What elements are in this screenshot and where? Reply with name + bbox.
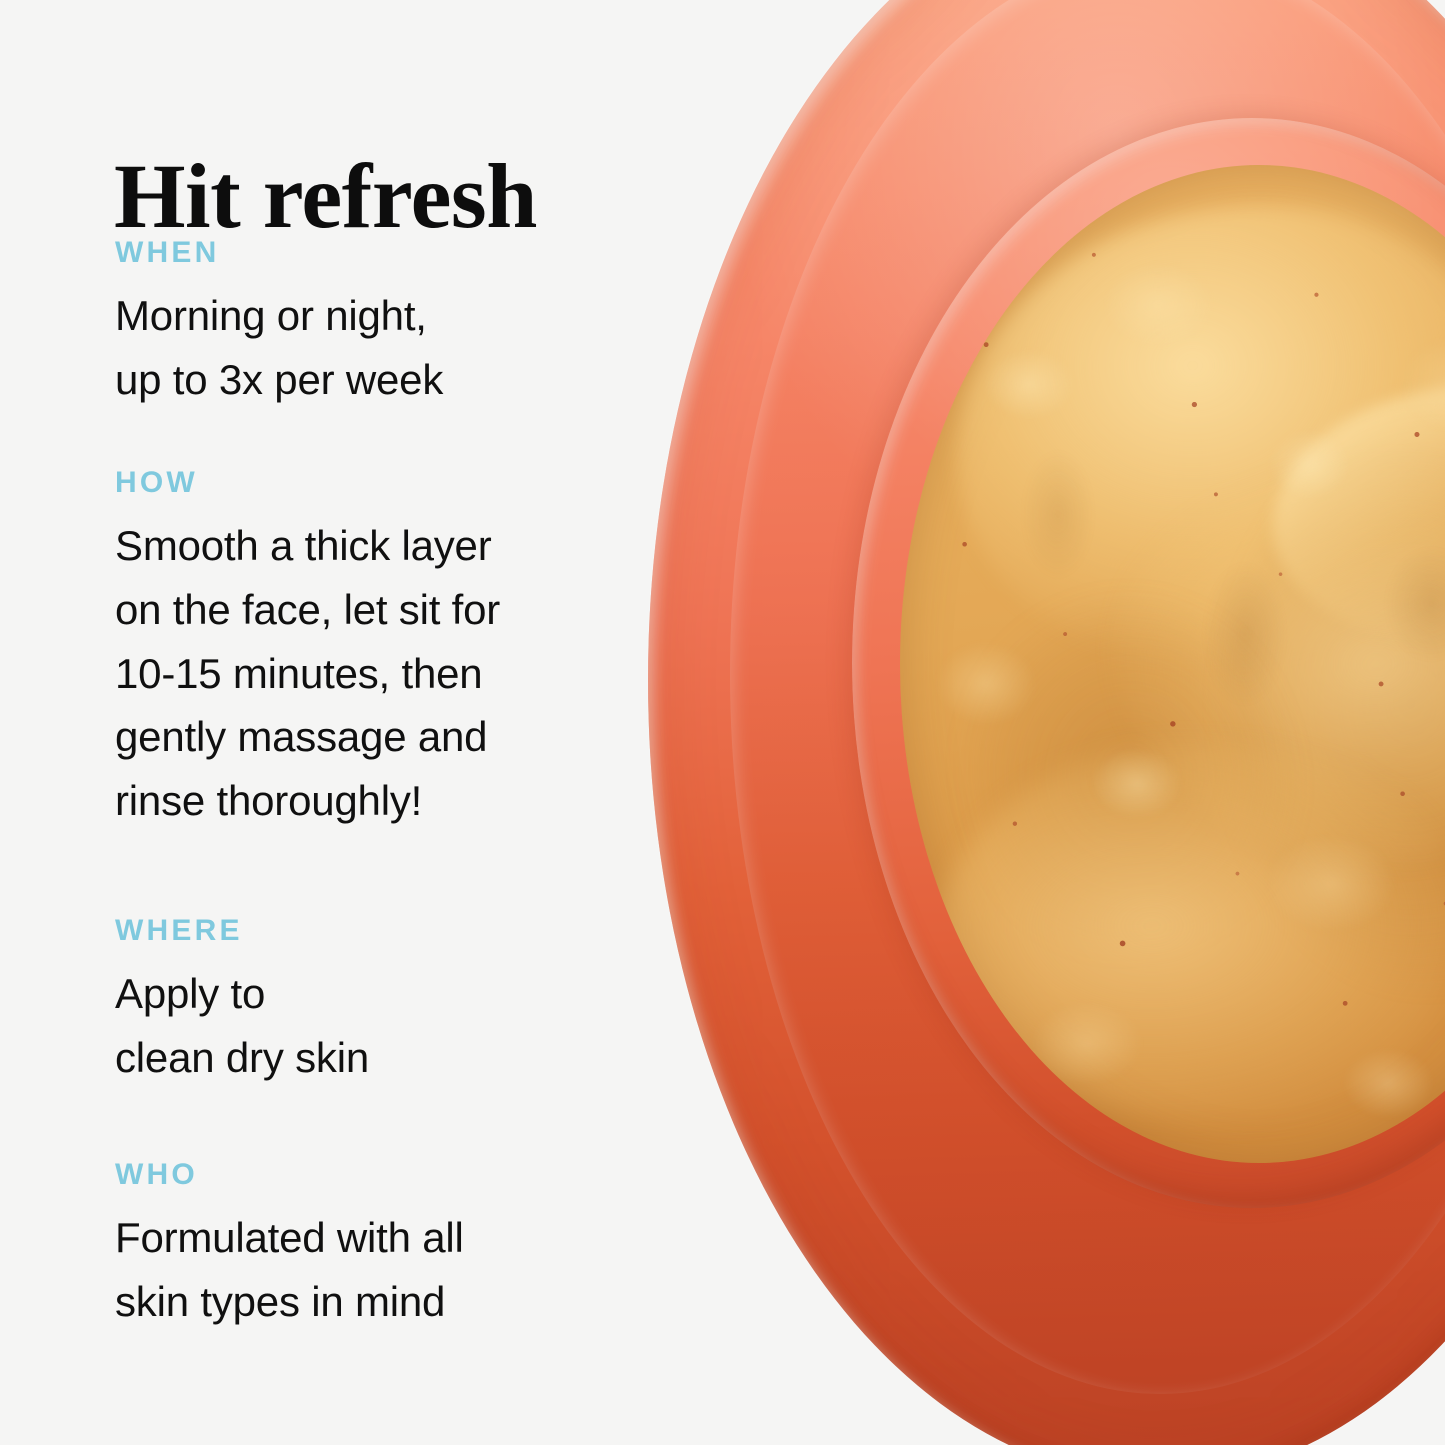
section-text-who: Formulated with all skin types in mind xyxy=(115,1206,464,1334)
section-where: WHERE Apply to clean dry skin xyxy=(115,916,369,1090)
section-label-when: WHEN xyxy=(115,238,443,268)
section-label-who: WHO xyxy=(115,1160,464,1190)
section-text-where: Apply to clean dry skin xyxy=(115,962,369,1090)
section-label-where: WHERE xyxy=(115,916,369,946)
mask-exfoliant-speckles xyxy=(900,165,1445,1163)
face-mask-product xyxy=(900,165,1445,1163)
page-title: Hit refresh xyxy=(114,150,537,242)
section-text-when: Morning or night, up to 3x per week xyxy=(115,284,443,412)
section-label-how: HOW xyxy=(115,468,500,498)
product-photo xyxy=(600,0,1445,1445)
section-who: WHO Formulated with all skin types in mi… xyxy=(115,1160,464,1334)
section-text-how: Smooth a thick layer on the face, let si… xyxy=(115,514,500,833)
section-how: HOW Smooth a thick layer on the face, le… xyxy=(115,468,500,833)
section-when: WHEN Morning or night, up to 3x per week xyxy=(115,238,443,412)
product-instructions-card: Hit refresh WHEN Morning or night, up to… xyxy=(0,0,1445,1445)
instructions-column: Hit refresh WHEN Morning or night, up to… xyxy=(0,0,600,1445)
